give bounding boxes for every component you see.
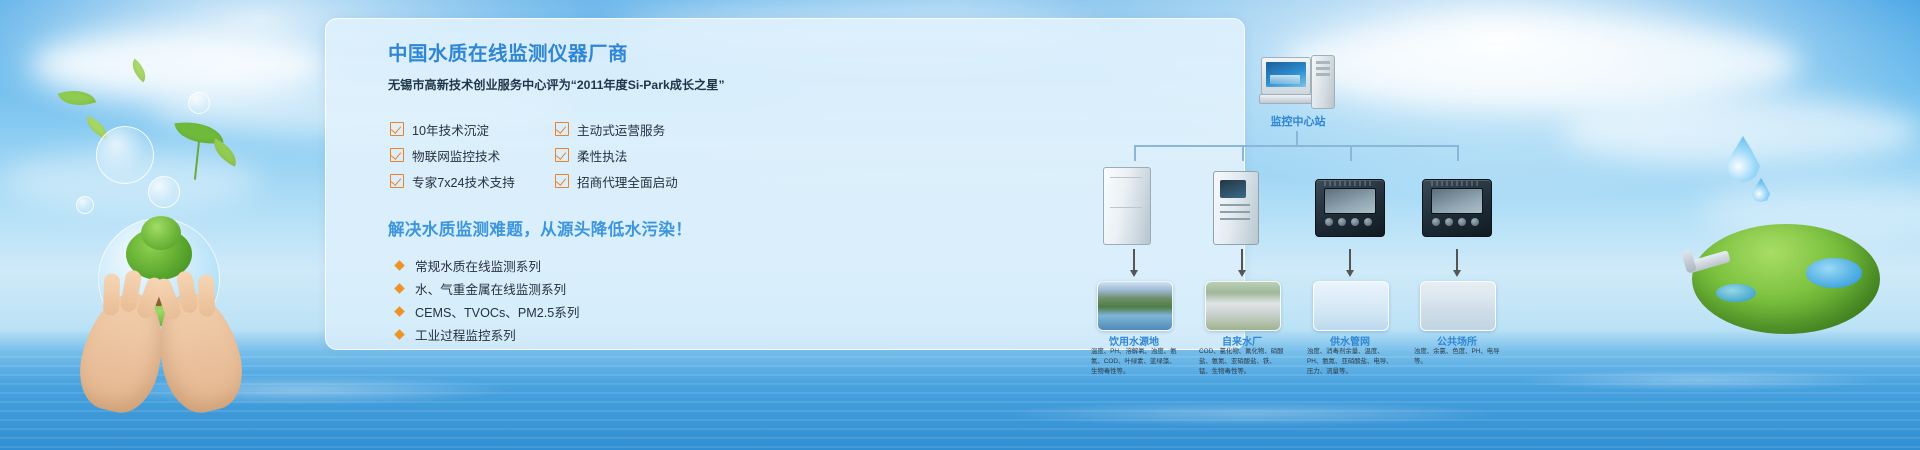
rack-analyzer-icon (1213, 171, 1259, 245)
diamond-bullet-icon (395, 261, 405, 271)
controller-buttons (1432, 218, 1480, 228)
controller-button (1458, 218, 1466, 226)
monitor-icon (1261, 57, 1311, 95)
check-icon (555, 174, 569, 188)
diamond-bullet-icon (395, 307, 405, 317)
feature-item: 物联网监控技术 (390, 142, 555, 168)
feature-label: 柔性执法 (577, 146, 627, 165)
tree-foliage-icon (141, 216, 181, 250)
product-line-item: CEMS、TVOCs、PM2.5系列 (396, 300, 748, 323)
controller-lcd (1324, 188, 1376, 214)
lake-decoration (1716, 284, 1756, 302)
node-parameters: 温度、PH、溶解氧、浊度、氨氮、COD、叶绿素、蓝绿藻、生物毒性等。 (1091, 347, 1177, 377)
lake-decoration (1806, 258, 1862, 288)
analyzer-window (1220, 180, 1246, 198)
banner-stage: 中国水质在线监测仪器厂商 无锡市高新技术创业服务中心评为“2011年度Si-Pa… (0, 0, 1920, 450)
device-illustration (1205, 161, 1279, 247)
feature-label: 10年技术沉淀 (412, 120, 489, 139)
panel-text-column: 中国水质在线监测仪器厂商 无锡市高新技术创业服务中心评为“2011年度Si-Pa… (388, 43, 748, 346)
controller-brand-strip (1324, 181, 1374, 186)
arrow-down-icon (1349, 249, 1351, 271)
controller-buttons (1325, 218, 1373, 228)
device-illustration (1313, 161, 1387, 247)
scene-photo-public-facility (1420, 281, 1496, 331)
feature-item: 专家7x24技术支持 (390, 168, 555, 194)
connector-vertical (1296, 131, 1298, 145)
controller-button (1338, 218, 1346, 226)
check-icon (555, 122, 569, 136)
check-icon (390, 148, 404, 162)
cabinet-analyzer-icon (1103, 167, 1151, 245)
controller-unit-icon (1422, 179, 1492, 237)
scene-photo-pipe-network-diagram (1313, 281, 1389, 331)
diagram-node (1097, 161, 1171, 247)
device-illustration (1097, 161, 1171, 247)
diagram-node (1313, 161, 1387, 247)
feature-label: 招商代理全面启动 (577, 172, 678, 191)
controller-brand-strip (1431, 181, 1481, 186)
node-caption: 公共场所 (1420, 333, 1494, 348)
feature-label: 专家7x24技术支持 (412, 172, 515, 191)
page-title: 中国水质在线监测仪器厂商 (388, 43, 748, 66)
product-line-label: 常规水质在线监测系列 (415, 256, 541, 275)
connector-horizontal (1134, 145, 1458, 147)
feature-item: 主动式运营服务 (555, 116, 720, 142)
finger (198, 274, 215, 317)
controller-button (1364, 218, 1372, 226)
bubble-decoration (188, 92, 210, 114)
page-subtitle: 无锡市高新技术创业服务中心评为“2011年度Si-Park成长之星” (388, 78, 748, 94)
diagram-node (1205, 161, 1279, 247)
connector-branch (1134, 145, 1136, 161)
scene-photo-drinking-water-source (1097, 281, 1173, 331)
center-node-label: 监控中心站 (1228, 113, 1368, 129)
bubble-decoration (96, 126, 154, 184)
monitor-screen (1266, 62, 1306, 87)
product-line-item: 工业过程监控系列 (396, 323, 748, 346)
bubble-decoration (148, 176, 180, 208)
feature-item: 柔性执法 (555, 142, 720, 168)
check-icon (555, 148, 569, 162)
controller-button (1445, 218, 1453, 226)
product-line-list: 常规水质在线监测系列 水、气重金属在线监测系列 CEMS、TVOCs、PM2.5… (396, 254, 748, 346)
diamond-bullet-icon (395, 284, 405, 294)
controller-button (1471, 218, 1479, 226)
controller-button (1432, 218, 1440, 226)
pc-tower-icon (1311, 55, 1335, 109)
controller-lcd (1431, 188, 1483, 214)
feature-item: 10年技术沉淀 (390, 116, 555, 142)
keyboard-icon (1259, 94, 1313, 104)
scene-photo-water-plant (1205, 281, 1281, 331)
node-caption: 自来水厂 (1205, 333, 1279, 348)
node-caption: 饮用水源地 (1097, 333, 1171, 348)
node-parameters: 浊度、消毒剂余量、温度、PH、氨氮、亚硝酸盐、电导、压力、流量等。 (1307, 347, 1393, 377)
feature-item: 招商代理全面启动 (555, 168, 720, 194)
diagram-node (1420, 161, 1494, 247)
product-line-item: 常规水质在线监测系列 (396, 254, 748, 277)
connector-branch (1457, 145, 1459, 161)
connector-branch (1350, 145, 1352, 161)
diamond-bullet-icon (395, 330, 405, 340)
product-line-item: 水、气重金属在线监测系列 (396, 277, 748, 300)
product-line-label: CEMS、TVOCs、PM2.5系列 (415, 302, 579, 321)
arrow-down-icon (1241, 249, 1243, 271)
bubble-decoration (76, 196, 94, 214)
arrow-down-icon (1133, 249, 1135, 271)
arrow-down-icon (1456, 249, 1458, 271)
system-diagram: 监控中心站 饮用水源地 温度、PH、溶解氧、浊度、氨氮、COD、叶绿素、蓝绿藻、… (1086, 41, 1506, 371)
feature-label: 主动式运营服务 (577, 120, 665, 139)
controller-button (1351, 218, 1359, 226)
section-title: 解决水质监测难题，从源头降低水污染！ (388, 216, 748, 240)
controller-unit-icon (1315, 179, 1385, 237)
monitoring-center-computer-icon (1261, 55, 1333, 109)
finger (103, 273, 120, 316)
node-parameters: 浊度、余氯、色度、PH、电导等。 (1414, 347, 1500, 367)
product-line-label: 工业过程监控系列 (415, 325, 516, 344)
product-line-label: 水、气重金属在线监测系列 (415, 279, 566, 298)
device-illustration (1420, 161, 1494, 247)
node-parameters: COD、氯化物、氟化物、硝酸盐、氨氮、亚硝酸盐、铁、锰、生物毒性等。 (1199, 347, 1285, 377)
connector-branch (1242, 145, 1244, 161)
check-icon (390, 174, 404, 188)
controller-button (1325, 218, 1333, 226)
feature-list: 10年技术沉淀 主动式运营服务 物联网监控技术 柔性执法 专家7x24技术支持 (390, 116, 720, 194)
feature-label: 物联网监控技术 (412, 146, 500, 165)
check-icon (390, 122, 404, 136)
content-panel: 中国水质在线监测仪器厂商 无锡市高新技术创业服务中心评为“2011年度Si-Pa… (325, 18, 1245, 350)
analyzer-pipes (1220, 204, 1250, 206)
node-caption: 供水管网 (1313, 333, 1387, 348)
